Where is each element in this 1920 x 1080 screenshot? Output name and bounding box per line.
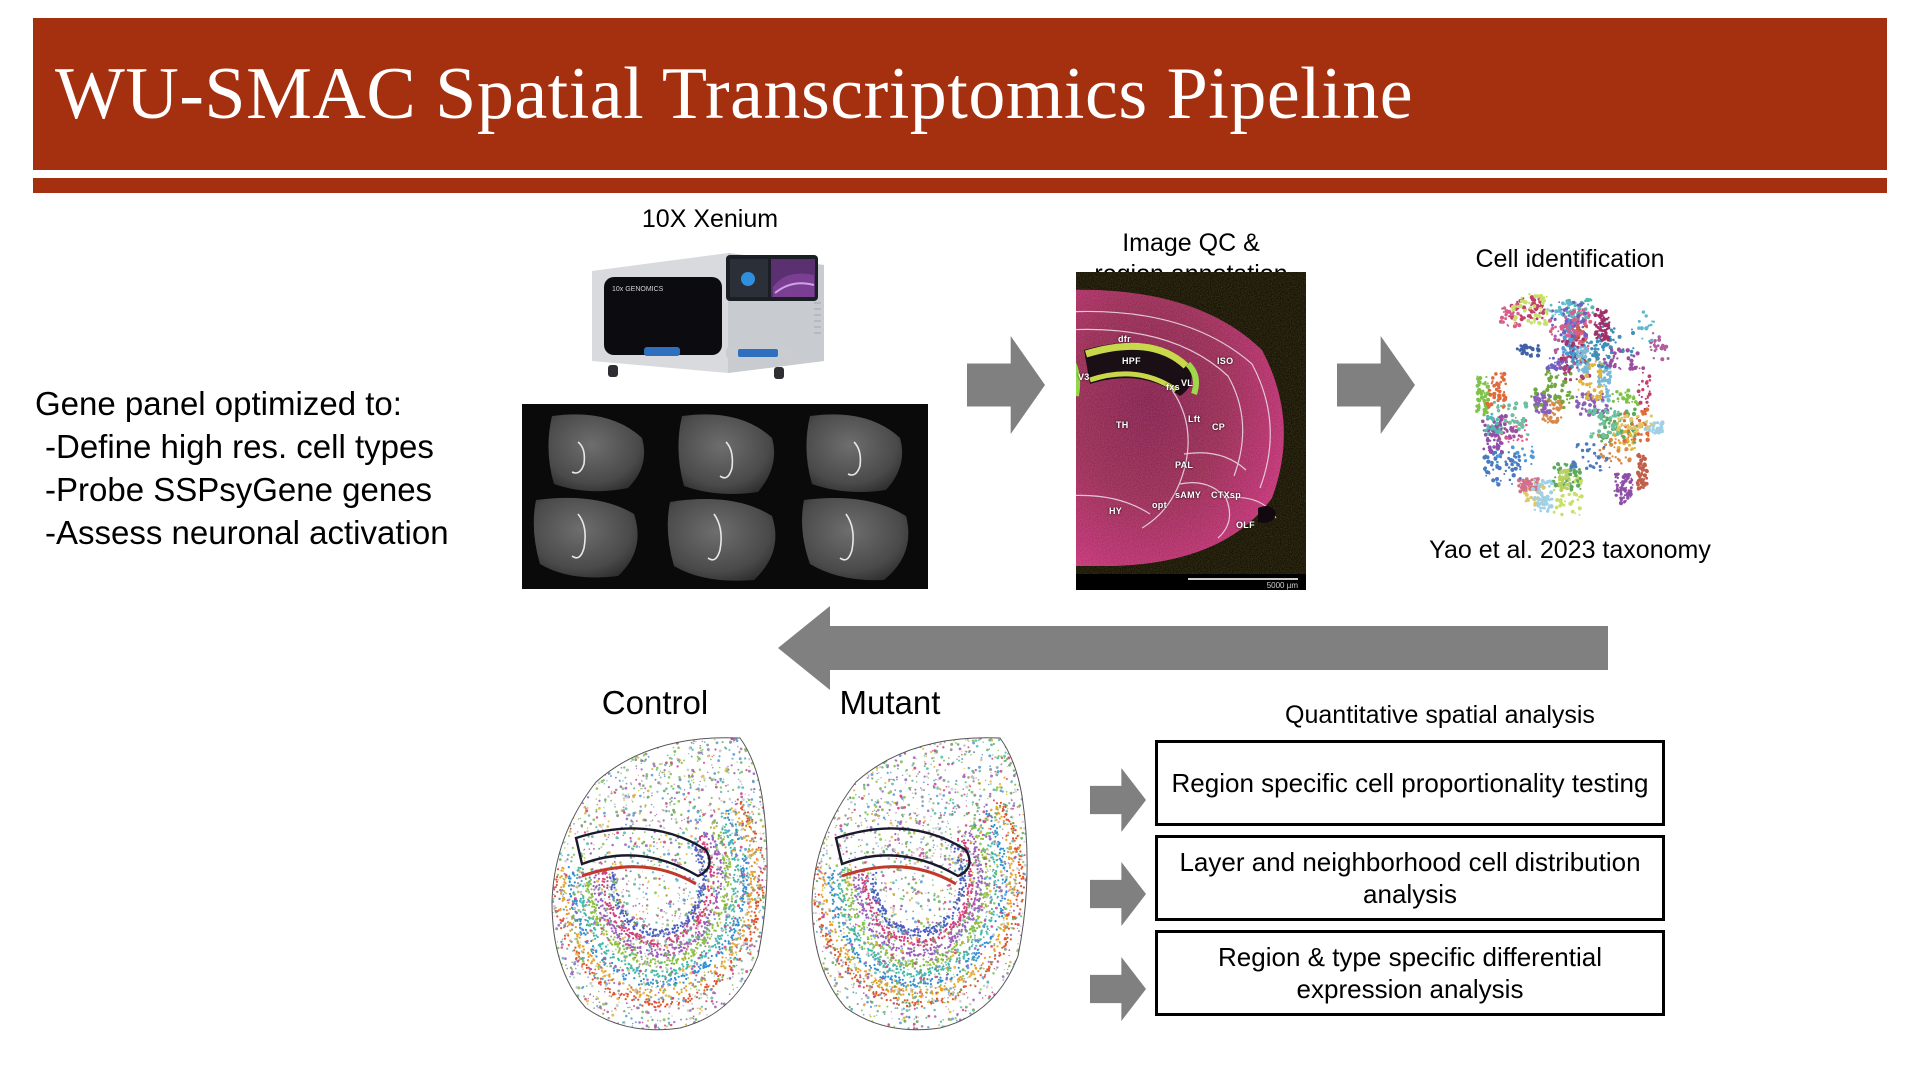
title-banner: WU-SMAC Spatial Transcriptomics Pipeline: [33, 18, 1887, 170]
arrow-qc-to-cellid-icon: [1337, 336, 1415, 434]
gene-panel-bullet-2: -Probe SSPsyGene genes: [35, 468, 505, 511]
mutant-sample-map: [790, 726, 1040, 1036]
page-title: WU-SMAC Spatial Transcriptomics Pipeline: [33, 57, 1413, 131]
qc-label-line1: Image QC &: [1036, 228, 1346, 259]
region-label-ctxsp: CTXsp: [1211, 490, 1241, 500]
title-accent-bar: [33, 178, 1887, 193]
analysis-heading: Quantitative spatial analysis: [1160, 700, 1720, 731]
region-label-samy: sAMY: [1175, 490, 1201, 500]
region-label-cp: CP: [1212, 422, 1225, 432]
connector-arrow-shape: [760, 612, 1620, 692]
instrument-label: 10X Xenium: [560, 204, 860, 235]
region-annotation-image: 5000 µm dfrV3HPFISOfxsVLTHLftCPPALsAMYCT…: [1076, 272, 1306, 590]
analysis-box-3[interactable]: Region & type specific differential expr…: [1155, 930, 1665, 1016]
analysis-box-1[interactable]: Region specific cell proportionality tes…: [1155, 740, 1665, 826]
region-label-v3: V3: [1078, 372, 1090, 382]
region-label-dfr: dfr: [1118, 334, 1131, 344]
arrow-instrument-to-qc-icon: [967, 336, 1045, 434]
region-label-fxs: fxs: [1166, 382, 1180, 392]
scalebar-label: 5000 µm: [1267, 581, 1298, 590]
arrow-to-analysis-box-3-icon: [1090, 957, 1146, 1021]
arrow-to-analysis-box-1-icon: [1090, 768, 1146, 832]
region-label-opt: opt: [1152, 500, 1167, 510]
mutant-label: Mutant: [790, 684, 990, 722]
taxonomy-caption: Yao et al. 2023 taxonomy: [1400, 535, 1740, 566]
region-label-lft: Lft: [1188, 414, 1200, 424]
region-label-vl: VL: [1181, 378, 1193, 388]
dapi-sections-image: [522, 404, 928, 589]
analysis-box-2[interactable]: Layer and neighborhood cell distribution…: [1155, 835, 1665, 921]
umap-cluster-plot: [1448, 282, 1694, 522]
gene-panel-bullet-1: -Define high res. cell types: [35, 425, 505, 468]
arrow-to-analysis-box-2-icon: [1090, 862, 1146, 926]
region-label-olf: OLF: [1236, 520, 1255, 530]
control-sample-map: [530, 726, 780, 1036]
svg-text:10x GENOMICS: 10x GENOMICS: [612, 286, 664, 293]
scalebar-line: [1188, 578, 1298, 580]
control-label: Control: [555, 684, 755, 722]
scalebar: 5000 µm: [1076, 574, 1306, 590]
region-label-pal: PAL: [1175, 460, 1193, 470]
gene-panel-text-block: Gene panel optimized to: -Define high re…: [35, 382, 505, 554]
region-label-th: TH: [1116, 420, 1129, 430]
gene-panel-bullet-3: -Assess neuronal activation: [35, 511, 505, 554]
region-label-iso: ISO: [1217, 356, 1233, 366]
xenium-instrument-image: 10x GENOMICS: [578, 243, 838, 383]
region-label-hpf: HPF: [1122, 356, 1141, 366]
gene-panel-heading: Gene panel optimized to:: [35, 382, 505, 425]
cell-identification-label: Cell identification: [1420, 244, 1720, 275]
region-label-hy: HY: [1109, 506, 1122, 516]
